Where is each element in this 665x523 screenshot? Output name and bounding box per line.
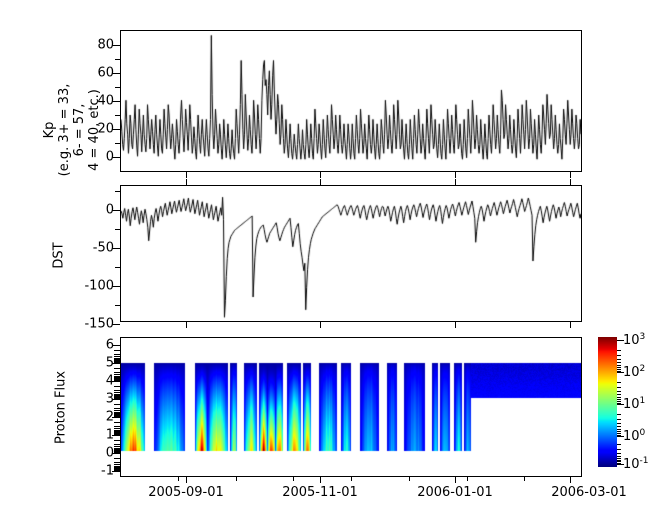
pf-ytickmark-minor-5-8 — [114, 452, 120, 453]
colorbar-label-100-exponent: 2 — [640, 364, 646, 374]
kp-ytickmark-major-1 — [112, 73, 120, 74]
xtick-2006-03-01: 2006-03-01 — [551, 485, 627, 500]
dst-ytick-m100: -100 — [74, 279, 114, 294]
colorbar-tickmark-major-1 — [617, 372, 624, 373]
colorbar-tickmark-minor-1-5 — [617, 397, 621, 398]
colorbar-tickmark-minor-3-2 — [617, 449, 621, 450]
dst-xtickmark-0 — [186, 322, 187, 328]
dst-ytickmark-major-0 — [112, 210, 120, 211]
pf-ytick-6: 6 — [86, 338, 114, 353]
colorbar-tickmark-major-4 — [617, 464, 624, 465]
pf-ytickmark-minor-1-2 — [114, 372, 120, 373]
xtick-2005-09-01: 2005-09-01 — [148, 485, 224, 500]
colorbar-tickmark-minor-0-3 — [617, 359, 621, 360]
proton-flux-axis-label: Proton Flux — [54, 353, 69, 463]
pf-ytickmark-minor-0-3 — [114, 356, 120, 357]
colorbar-tickmark-minor-2-7 — [617, 433, 621, 434]
colorbar-tickmark-minor-0-4 — [617, 362, 621, 363]
pf-ytickmark-minor-2-3 — [114, 392, 120, 393]
pf-ytickmark-minor-1-8 — [114, 380, 120, 381]
dst-xtickmark-top-2 — [455, 179, 456, 185]
kp-ytickmark-minor-0 — [115, 59, 120, 60]
pf-ytickmark-major-0 — [112, 345, 120, 346]
colorbar-tickmark-minor-1-1 — [617, 382, 621, 383]
colorbar-label-1-mantissa: 10 — [623, 429, 640, 444]
kp-ytick-60: 60 — [86, 66, 114, 81]
kp-ytickmark-minor-2 — [115, 115, 120, 116]
dst-ytick-0: 0 — [74, 203, 114, 218]
colorbar-tickmark-minor-1-7 — [617, 401, 621, 402]
xtick-2005-11-01: 2005-11-01 — [282, 485, 358, 500]
colorbar-tickmark-minor-0-8 — [617, 371, 621, 372]
pf-ytickmark-minor-4-8 — [114, 434, 120, 435]
kp-ytickmark-minor-1 — [115, 87, 120, 88]
dst-ytickmark-major-2 — [112, 286, 120, 287]
colorbar-tickmark-minor-2-6 — [617, 431, 621, 432]
colorbar-label-1000-exponent: 3 — [640, 332, 646, 342]
pf-xtickmark-minor-2 — [236, 477, 237, 481]
pf-xtickmark-minor-4 — [351, 477, 352, 481]
dst-xtickmark-top-1 — [320, 179, 321, 185]
pf-ytick-1: 1 — [86, 428, 114, 443]
kp-xtickmark-3 — [570, 172, 571, 178]
pf-ytickmark-minor-2-1 — [114, 386, 120, 387]
dst-ytickmark-minor-3 — [115, 305, 120, 306]
colorbar-tickmark-minor-1-6 — [617, 399, 621, 400]
pf-ytickmark-minor-3-1 — [114, 404, 120, 405]
proton-flux-heatmap-canvas — [121, 338, 581, 476]
pf-xtickmark-minor-1 — [178, 477, 179, 481]
pf-ytick-4: 4 — [86, 374, 114, 389]
colorbar-tickmark-major-0 — [617, 340, 624, 341]
dst-xtickmark-2 — [455, 322, 456, 328]
colorbar-tickmark-minor-2-1 — [617, 414, 621, 415]
colorbar-label-100: 102 — [623, 364, 645, 380]
dst-series-canvas — [121, 186, 581, 321]
kp-axis-label-line1: Kp — [42, 50, 57, 210]
colorbar-label-0.1-exponent: -1 — [640, 456, 649, 466]
colorbar-tickmark-minor-1-8 — [617, 403, 621, 404]
kp-series-canvas — [121, 31, 581, 171]
pf-ytickmark-minor-1-1 — [114, 368, 120, 369]
pf-ytickmark-minor-1-3 — [114, 374, 120, 375]
kp-axis-label-line3: 6- = 57, — [72, 50, 87, 210]
pf-ytick-3: 3 — [86, 392, 114, 407]
pf-xtickmark-minor-7 — [524, 477, 525, 481]
pf-ytickmark-minor-0-2 — [114, 354, 120, 355]
pf-ytickmark-major-2 — [112, 381, 120, 382]
colorbar-label-0.1-mantissa: 10 — [623, 457, 640, 472]
kp-xtickmark-1 — [320, 172, 321, 178]
kp-xtickmark-0 — [186, 172, 187, 178]
colorbar-tickmark-minor-2-4 — [617, 426, 621, 427]
pf-ytick-0: 0 — [86, 446, 114, 461]
dst-ytickmark-minor-1 — [115, 229, 120, 230]
pf-xtickmark-3 — [570, 477, 571, 483]
dst-ytickmark-major-3 — [112, 324, 120, 325]
kp-ytickmark-major-2 — [112, 101, 120, 102]
colorbar-tickmark-major-3 — [617, 436, 624, 437]
colorbar-tickmark-minor-3-7 — [617, 461, 621, 462]
pf-ytickmark-minor-4-3 — [114, 428, 120, 429]
colorbar-tickmark-minor-3-5 — [617, 458, 621, 459]
pf-ytickmark-major-1 — [112, 363, 120, 364]
pf-ytickmark-minor-6-2 — [114, 462, 120, 463]
pf-ytickmark-minor-5-1 — [114, 440, 120, 441]
kp-axis-label-line2: (e.g. 3+ = 33, — [57, 50, 72, 210]
dst-ytickmark-minor-2 — [115, 267, 120, 268]
kp-ytick-80: 80 — [86, 38, 114, 53]
dst-xtickmark-1 — [320, 322, 321, 328]
pf-ytickmark-major-3 — [112, 399, 120, 400]
pf-xtickmark-0 — [186, 477, 187, 483]
pf-ytickmark-minor-6-3 — [114, 464, 120, 465]
colorbar-tickmark-minor-2-5 — [617, 429, 621, 430]
colorbar-tickmark-major-2 — [617, 404, 624, 405]
colorbar-tickmark-minor-2-3 — [617, 423, 621, 424]
colorbar-tickmark-minor-3-4 — [617, 456, 621, 457]
dst-axis-label: DST — [52, 226, 67, 286]
pf-ytick-2: 2 — [86, 410, 114, 425]
pf-ytick-5: 5 — [86, 356, 114, 371]
pf-ytickmark-minor-2-8 — [114, 398, 120, 399]
dst-xtickmark-top-0 — [186, 179, 187, 185]
colorbar-label-10-exponent: 1 — [640, 396, 646, 406]
colorbar-frame — [598, 337, 617, 467]
kp-ytick-20: 20 — [86, 122, 114, 137]
dst-ytickmark-minor-0 — [115, 191, 120, 192]
colorbar-tickmark-minor-3-3 — [617, 453, 621, 454]
pf-ytickmark-minor-4-2 — [114, 426, 120, 427]
pf-xtickmark-2 — [455, 477, 456, 483]
kp-ytickmark-minor-3 — [115, 143, 120, 144]
dst-xtickmark-3 — [570, 322, 571, 328]
pf-ytickmark-major-7 — [112, 471, 120, 472]
colorbar-label-0.1: 10-1 — [623, 456, 649, 472]
pf-ytickmark-minor-0-1 — [114, 350, 120, 351]
colorbar-tickmark-minor-1-3 — [617, 391, 621, 392]
dst-ytick-m150: -150 — [74, 317, 114, 332]
pf-ytickmark-minor-3-8 — [114, 416, 120, 417]
pf-ytickmark-minor-6-1 — [114, 458, 120, 459]
colorbar-tickmark-minor-0-2 — [617, 355, 621, 356]
colorbar-tickmark-minor-3-1 — [617, 444, 621, 445]
kp-ytickmark-major-4 — [112, 157, 120, 158]
pf-ytickmark-minor-3-2 — [114, 408, 120, 409]
pf-ytickmark-minor-6-8 — [114, 470, 120, 471]
pf-ytickmark-minor-5-3 — [114, 446, 120, 447]
pf-ytickmark-minor-5-2 — [114, 444, 120, 445]
kp-ytick-40: 40 — [86, 94, 114, 109]
pf-ytickmark-minor-0-8 — [114, 362, 120, 363]
pf-ytick-m1: -1 — [82, 464, 114, 479]
dst-ytick-m50: -50 — [74, 241, 114, 256]
colorbar-label-100-mantissa: 10 — [623, 365, 640, 380]
colorbar-tickmark-minor-0-1 — [617, 350, 621, 351]
xtick-2006-01-01: 2006-01-01 — [417, 485, 493, 500]
pf-ytickmark-minor-2-2 — [114, 390, 120, 391]
pf-ytickmark-minor-4-1 — [114, 422, 120, 423]
pf-ytickmark-major-6 — [112, 453, 120, 454]
dst-xtickmark-top-3 — [570, 179, 571, 185]
pf-xtickmark-minor-5 — [409, 477, 410, 481]
colorbar-tickmark-minor-2-2 — [617, 419, 621, 420]
colorbar-label-1000: 103 — [623, 332, 645, 348]
colorbar-tickmark-minor-0-7 — [617, 369, 621, 370]
dst-ytickmark-major-1 — [112, 248, 120, 249]
colorbar-label-1000-mantissa: 10 — [623, 333, 640, 348]
kp-ytick-0: 0 — [86, 150, 114, 165]
colorbar-tickmark-minor-1-2 — [617, 387, 621, 388]
kp-xtickmark-2 — [455, 172, 456, 178]
colorbar-tickmark-minor-0-5 — [617, 365, 621, 366]
kp-ytickmark-major-3 — [112, 129, 120, 130]
figure-canvas: Kp (e.g. 3+ = 33, 6- = 57, 4 = 40, etc.)… — [0, 0, 665, 523]
colorbar-label-1-exponent: 0 — [640, 428, 646, 438]
pf-ytickmark-minor-3-3 — [114, 410, 120, 411]
colorbar-tickmark-minor-1-4 — [617, 394, 621, 395]
colorbar-label-10: 101 — [623, 396, 645, 412]
pf-xtickmark-1 — [320, 477, 321, 483]
pf-xtickmark-minor-3 — [293, 477, 294, 481]
colorbar-label-1: 100 — [623, 428, 645, 444]
colorbar-label-10-mantissa: 10 — [623, 397, 640, 412]
pf-xtickmark-minor-6 — [467, 477, 468, 481]
colorbar-tickmark-minor-2-8 — [617, 435, 621, 436]
pf-ytickmark-major-4 — [112, 417, 120, 418]
pf-ytickmark-major-5 — [112, 435, 120, 436]
kp-ytickmark-major-0 — [112, 45, 120, 46]
colorbar-tickmark-minor-3-8 — [617, 463, 621, 464]
colorbar-tickmark-minor-0-6 — [617, 367, 621, 368]
